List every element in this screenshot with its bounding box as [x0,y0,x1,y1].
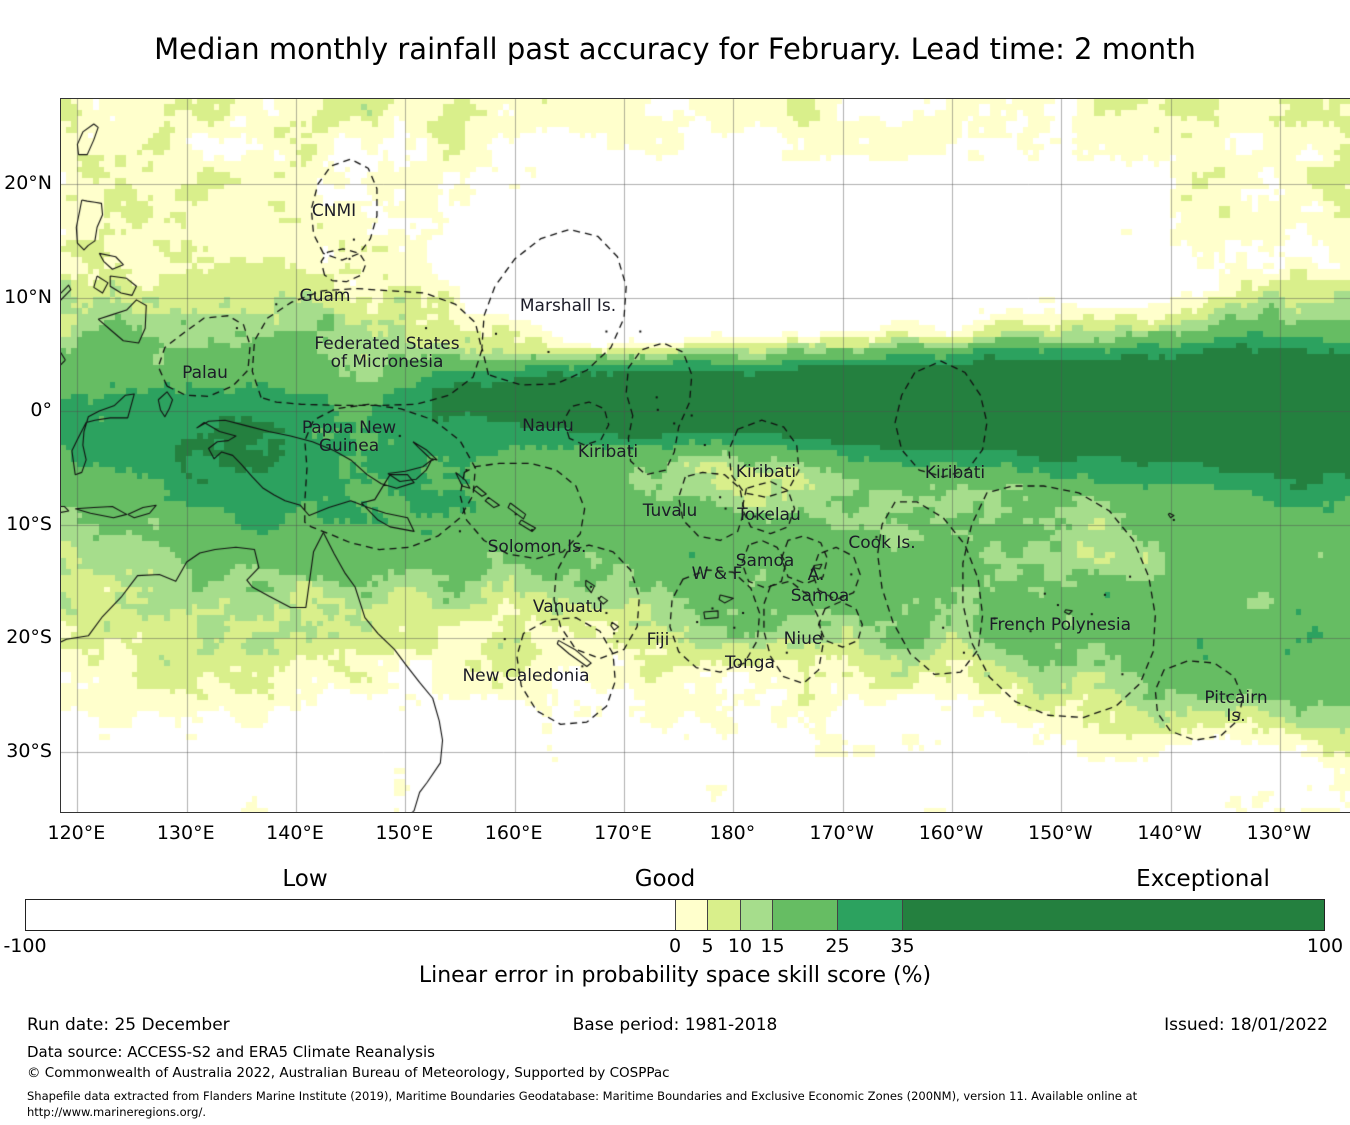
colorbar-tick-label: 0 [669,935,681,957]
colorbar-title: Linear error in probability space skill … [0,963,1350,988]
y-tick-label: 20°S [6,626,52,648]
base-period: Base period: 1981-2018 [573,1015,778,1035]
run-date: Run date: 25 December [27,1015,230,1035]
colorbar-tick-label: 15 [760,935,784,957]
colorbar-quality-label: Exceptional [1136,866,1270,892]
colorbar-segment [707,900,739,930]
x-tick-label: 120°E [48,822,106,844]
x-tick-label: 150°W [1028,822,1093,844]
x-tick-label: 130°E [157,822,215,844]
shapefile-attribution-line1: Shapefile data extracted from Flanders M… [27,1089,1137,1103]
colorbar-segment [772,900,837,930]
issued-date: Issued: 18/01/2022 [1164,1015,1328,1035]
x-tick-label: 140°W [1137,822,1202,844]
colorbar-segment [26,900,675,930]
x-tick-label: 130°W [1247,822,1312,844]
x-tick-label: 180° [709,822,755,844]
colorbar-segment [837,900,902,930]
y-tick-label: 20°N [4,172,52,194]
colorbar-tick-label: 35 [890,935,914,957]
colorbar-tick-label: 10 [728,935,752,957]
colorbar [25,899,1325,931]
data-source: Data source: ACCESS-S2 and ERA5 Climate … [27,1043,435,1061]
x-tick-label: 170°W [809,822,874,844]
y-tick-label: 30°S [6,740,52,762]
colorbar-quality-label: Good [635,866,696,892]
copyright-notice: © Commonwealth of Australia 2022, Austra… [27,1065,670,1081]
x-tick-label: 160°W [919,822,984,844]
climate-map-figure: Median monthly rainfall past accuracy fo… [0,0,1350,1125]
colorbar-quality-label: Low [282,866,327,892]
colorbar-tick-label: 25 [825,935,849,957]
y-tick-label: 0° [30,399,52,421]
page-title: Median monthly rainfall past accuracy fo… [0,32,1350,66]
colorbar-tick-label: 100 [1307,935,1343,957]
rainfall-skill-heatmap [61,99,1350,813]
y-tick-label: 10°N [4,286,52,308]
x-tick-label: 170°E [594,822,652,844]
shapefile-attribution-line2: http://www.marineregions.org/. [27,1105,206,1119]
map-plot-area [60,98,1350,813]
colorbar-tick-label: 5 [701,935,713,957]
colorbar-qualitative-labels: LowGoodExceptional [0,866,1350,894]
x-tick-label: 150°E [375,822,433,844]
footer-metadata-row: Run date: 25 December Base period: 1981-… [0,1015,1350,1039]
x-tick-label: 140°E [266,822,324,844]
colorbar-tick-label: -100 [3,935,46,957]
colorbar-segment [740,900,772,930]
colorbar-segment [675,900,707,930]
colorbar-segment [902,900,1324,930]
y-tick-label: 10°S [6,513,52,535]
x-tick-label: 160°E [485,822,543,844]
